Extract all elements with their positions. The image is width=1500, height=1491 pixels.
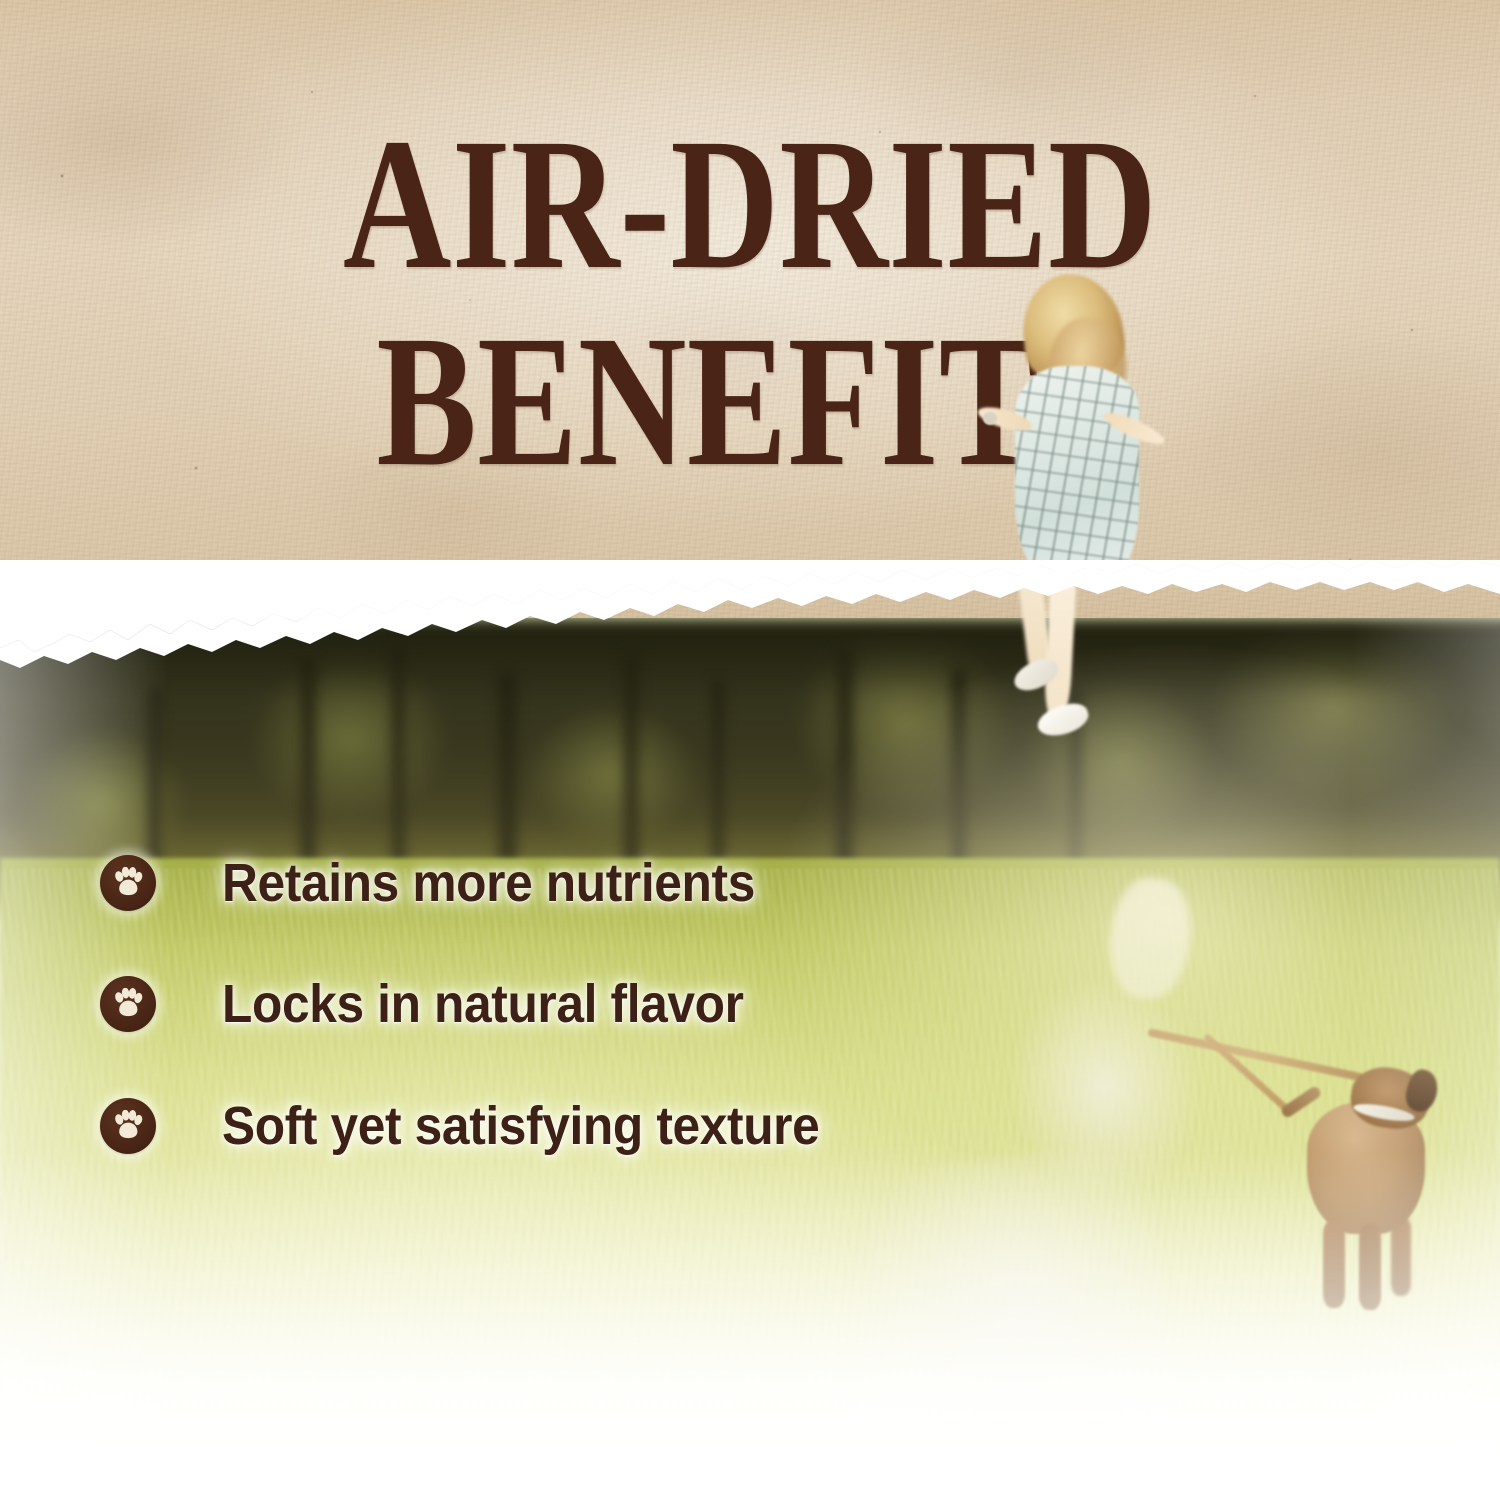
list-item: Locks in natural flavor [100,976,789,1032]
paw-icon [100,855,156,911]
list-item-label: Locks in natural flavor [222,977,744,1031]
paw-icon [100,976,156,1032]
list-item: Soft yet satisfying texture [100,1098,871,1154]
list-item: Retains more nutrients [100,855,801,911]
list-item-label: Soft yet satisfying texture [222,1099,819,1153]
paw-icon [100,1098,156,1154]
air-dried-benefits-banner: AIR-DRIED BENEFITS [0,0,1500,1491]
benefits-list: Retains more nutrients Locks in natural … [0,0,1500,1491]
list-item-label: Retains more nutrients [222,856,755,910]
